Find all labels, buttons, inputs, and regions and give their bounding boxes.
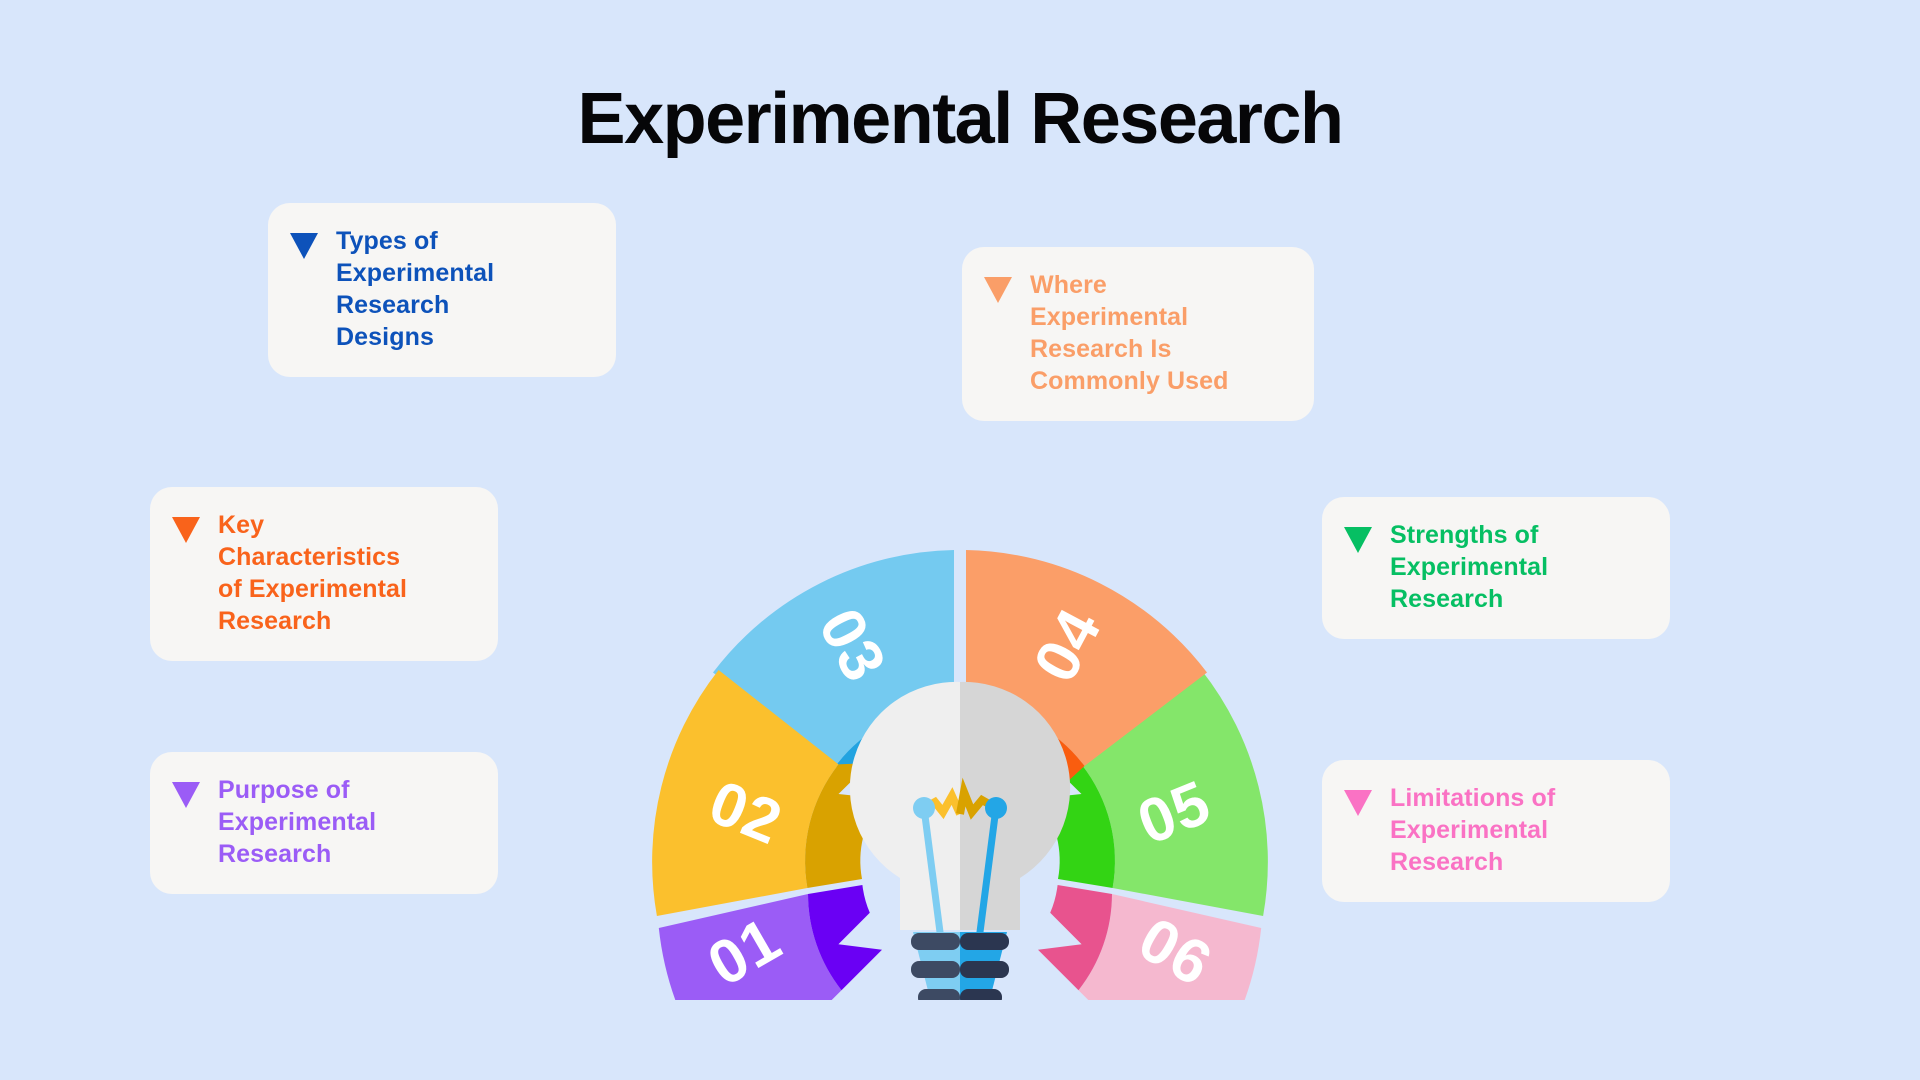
lightbulb-illustration xyxy=(850,682,1070,1000)
bulb-base-band-2-left xyxy=(911,961,960,978)
info-card-label: Purpose of Experimental Research xyxy=(218,774,376,870)
info-card-label: Types of Experimental Research Designs xyxy=(336,225,494,353)
bulb-base-band-1-left xyxy=(911,933,960,950)
info-card-label: Limitations of Experimental Research xyxy=(1390,782,1555,878)
bulb-base-band-3-left xyxy=(918,989,960,1000)
info-card-label: Key Characteristics of Experimental Rese… xyxy=(218,509,407,637)
triangle-down-icon xyxy=(172,517,200,543)
infographic-canvas: Experimental Research 06 05 04 xyxy=(0,0,1920,1080)
info-card-purpose-of-experimental-research[interactable]: Purpose of Experimental Research xyxy=(150,752,498,894)
triangle-down-icon xyxy=(1344,790,1372,816)
info-card-where-experimental-research-is-commonly-used[interactable]: Where Experimental Research Is Commonly … xyxy=(962,247,1314,421)
bulb-contact-dot-right xyxy=(985,797,1007,819)
triangle-down-icon xyxy=(984,277,1012,303)
info-card-limitations-of-experimental-research[interactable]: Limitations of Experimental Research xyxy=(1322,760,1670,902)
info-card-types-of-experimental-research-designs[interactable]: Types of Experimental Research Designs xyxy=(268,203,616,377)
page-title: Experimental Research xyxy=(0,78,1920,160)
bulb-base-band-1-right xyxy=(960,933,1009,950)
triangle-down-icon xyxy=(1344,527,1372,553)
bulb-base-band-3-right xyxy=(960,989,1002,1000)
triangle-down-icon xyxy=(290,233,318,259)
info-card-label: Strengths of Experimental Research xyxy=(1390,519,1548,615)
bulb-contact-dot-left xyxy=(913,797,935,819)
triangle-down-icon xyxy=(172,782,200,808)
info-card-label: Where Experimental Research Is Commonly … xyxy=(1030,269,1229,397)
info-card-strengths-of-experimental-research[interactable]: Strengths of Experimental Research xyxy=(1322,497,1670,639)
info-card-key-characteristics-of-experimental-research[interactable]: Key Characteristics of Experimental Rese… xyxy=(150,487,498,661)
bulb-base-band-2-right xyxy=(960,961,1009,978)
